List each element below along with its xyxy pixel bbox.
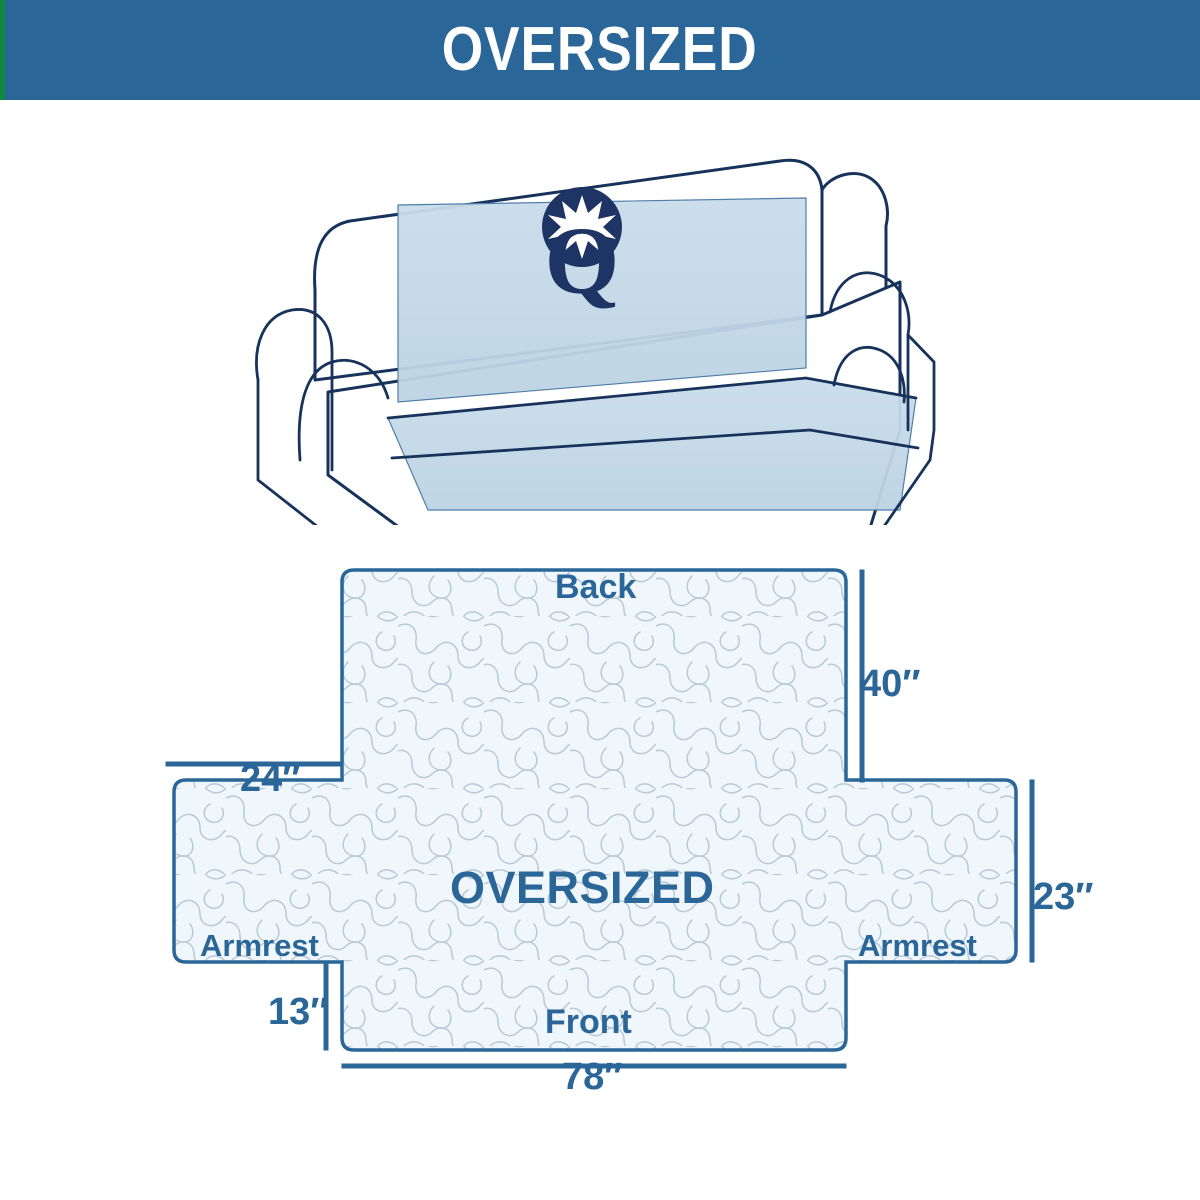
panel-label-armrest-right: Armrest — [858, 930, 977, 961]
dimension-label-total-width: 78″ — [562, 1058, 622, 1096]
cover-cross-shape — [174, 570, 1016, 1050]
page-title: OVERSIZED — [442, 19, 758, 81]
dimension-label-front-height: 13″ — [268, 993, 328, 1031]
dimension-label-armrest-height: 23″ — [1033, 878, 1093, 916]
sofa-illustration: Q — [240, 130, 980, 525]
dimension-label-back-offset: 24″ — [240, 760, 300, 798]
sizing-diagram-page: OVERSIZED — [0, 0, 1200, 1200]
panel-label-front: Front — [545, 1005, 632, 1039]
center-label-oversized: OVERSIZED — [450, 865, 715, 910]
dimension-label-back-height: 40″ — [860, 665, 920, 703]
header-accent-strip — [0, 0, 5, 100]
q-starburst-logo: Q — [542, 187, 622, 314]
panel-label-armrest-left: Armrest — [200, 930, 319, 961]
panel-label-back: Back — [555, 570, 636, 604]
svg-text:Q: Q — [545, 207, 620, 314]
header-banner: OVERSIZED — [0, 0, 1200, 100]
